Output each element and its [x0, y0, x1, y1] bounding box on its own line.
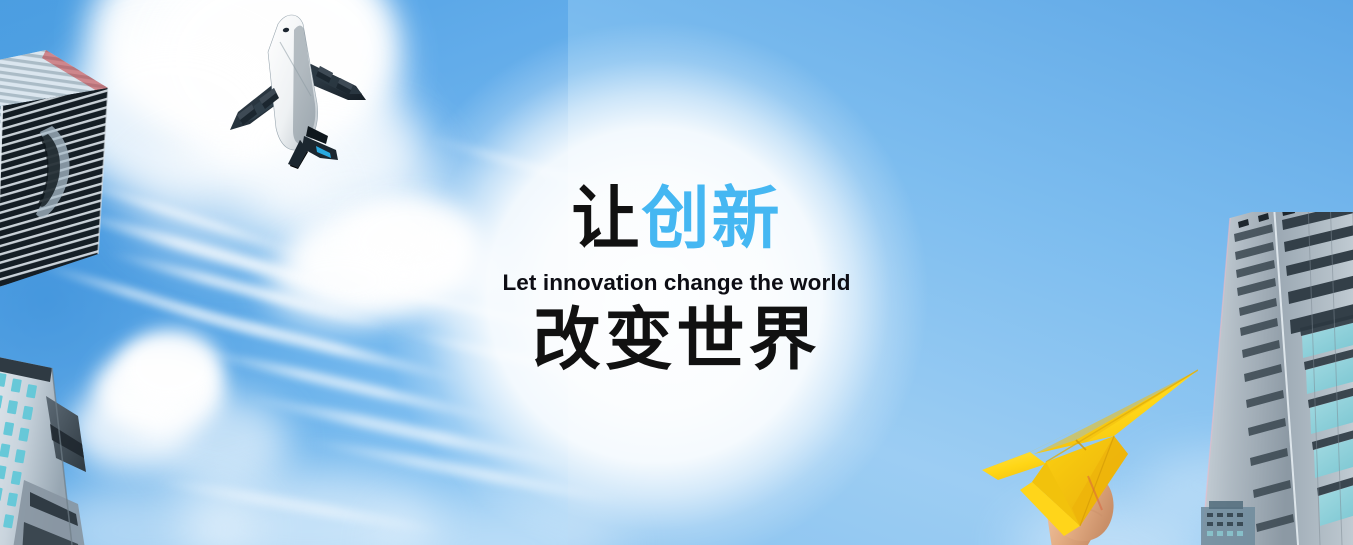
distant-building — [1193, 493, 1263, 545]
striped-tower-building — [0, 48, 122, 288]
hand-with-paper-plane — [968, 358, 1198, 545]
office-building-left — [0, 340, 184, 545]
jet-airliner-icon — [216, 8, 368, 170]
hero-banner: 让创新 Let innovation change the world 改变世界 — [0, 0, 1353, 545]
